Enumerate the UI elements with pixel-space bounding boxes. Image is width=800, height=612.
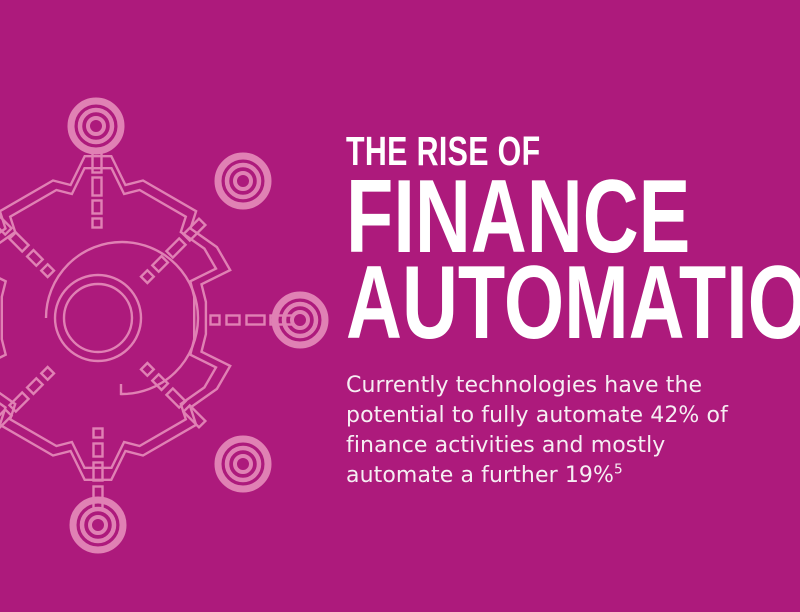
connector-top [93, 151, 102, 228]
node-right [275, 295, 325, 345]
body-paragraph-text: Currently technologies have the potentia… [346, 373, 728, 488]
connector-upper-left [0, 213, 54, 277]
gear-spiral-arc [46, 242, 198, 394]
connector-lower-right [141, 363, 205, 427]
text-column: THE RISE OF FINANCE AUTOMATION Currently… [346, 0, 786, 612]
headline-line-2: AUTOMATION [346, 260, 800, 346]
page-title: FINANCE AUTOMATION [346, 174, 800, 346]
node-bottom [73, 500, 123, 550]
node-top [71, 101, 121, 151]
body-paragraph: Currently technologies have the potentia… [346, 371, 766, 491]
gear-hub-ring-inner [64, 284, 132, 352]
gear-outer-outline [0, 156, 230, 480]
connector-right [211, 316, 293, 325]
poster-canvas: THE RISE OF FINANCE AUTOMATION Currently… [0, 0, 800, 612]
node-lower-right [218, 439, 268, 489]
connector-upper-right [141, 219, 205, 283]
gear-inner-outline [0, 168, 216, 468]
connector-bottom [94, 429, 103, 509]
connector-lower-left [0, 367, 54, 431]
gear-hub-ring-outer [55, 275, 141, 361]
footnote-marker: 5 [614, 462, 623, 478]
node-upper-right [218, 156, 268, 206]
